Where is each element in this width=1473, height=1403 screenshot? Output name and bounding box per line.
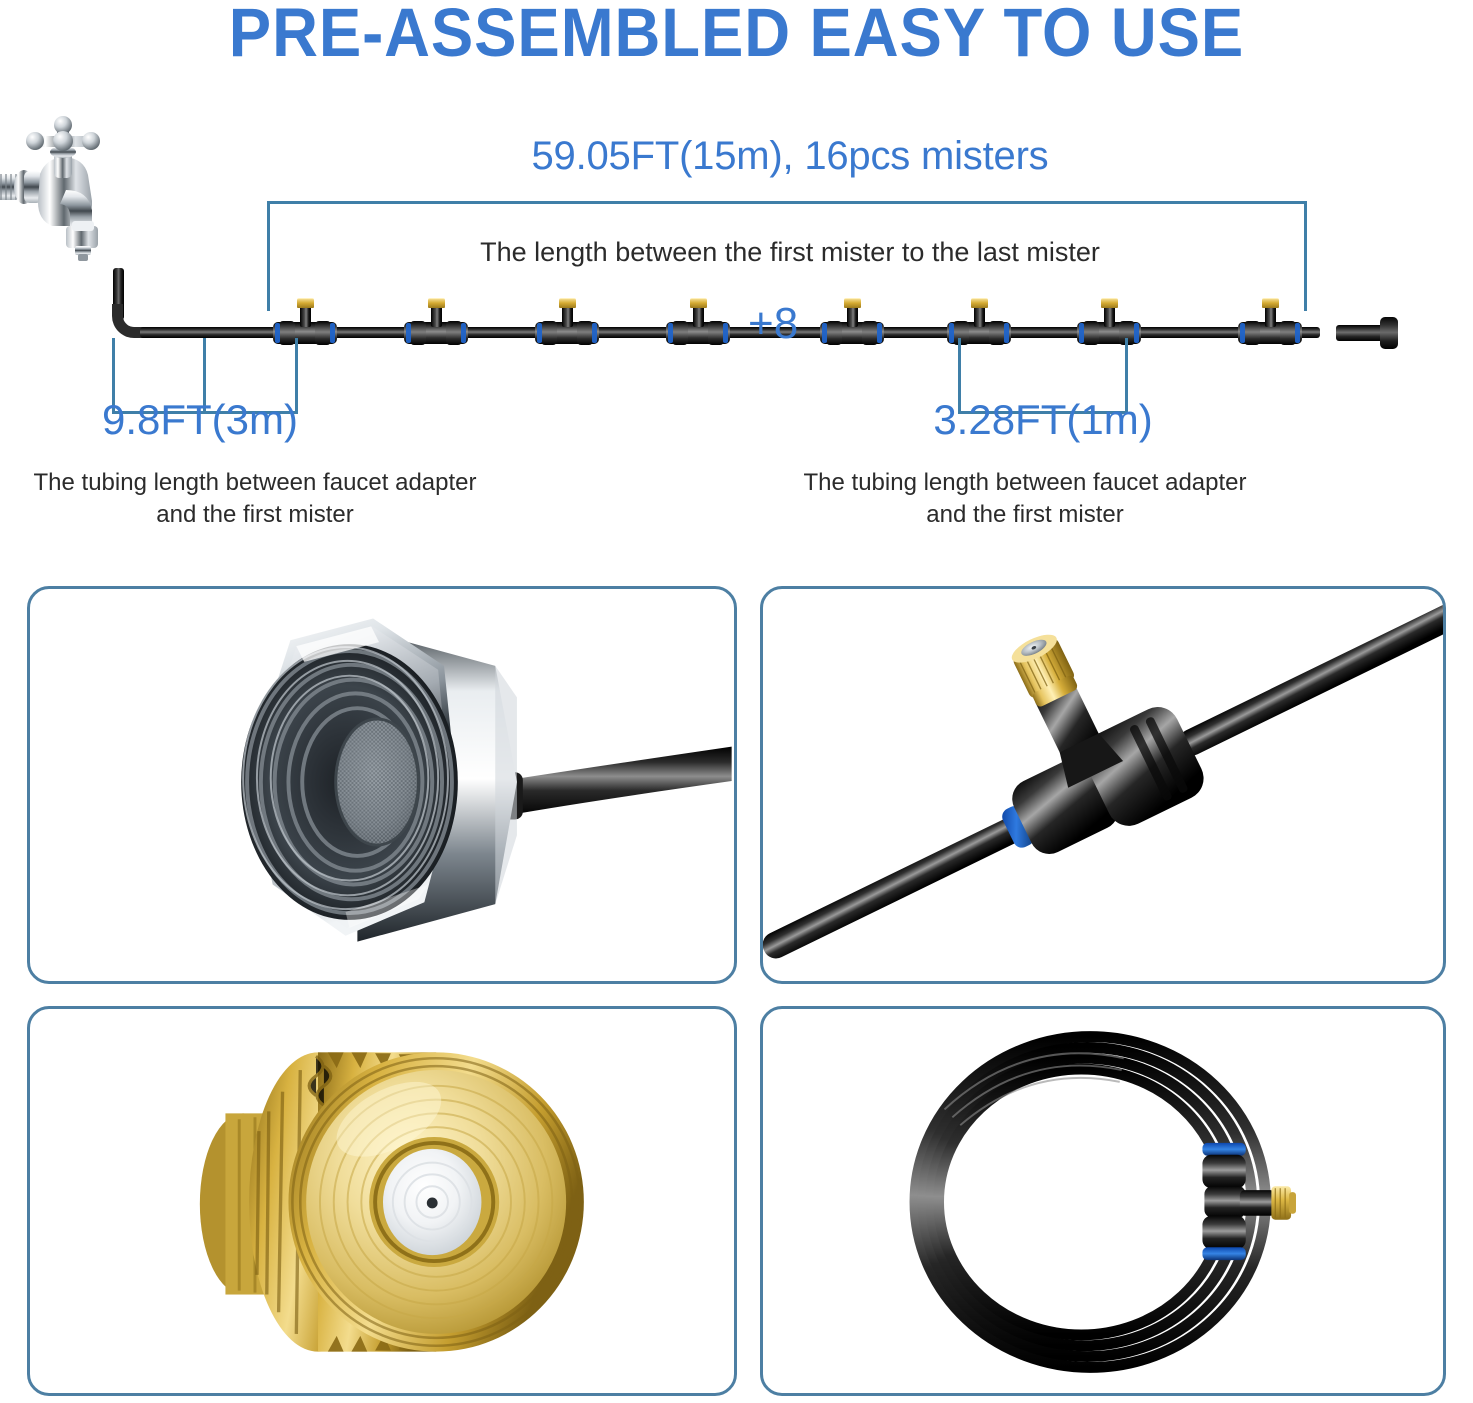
mister-node [666,298,730,344]
mister-node [404,298,468,344]
product-infographic: PRE-ASSEMBLED EASY TO USE 59.05FT(15m), … [0,0,1473,1403]
left-dimension-label: 9.8FT(3m) [30,396,370,444]
end-cap-plug [1336,317,1402,349]
mister-node [535,298,599,344]
page-title: PRE-ASSEMBLED EASY TO USE [59,0,1414,67]
brass-nozzle-icon [297,298,314,308]
mister-node [820,298,884,344]
brass-nozzle-icon [1101,298,1118,308]
photo-panel-faucet-adapter [27,586,737,984]
photo-panel-mister-tee [760,586,1446,984]
photo-panel-brass-nozzle [27,1006,737,1396]
brass-nozzle-icon [559,298,576,308]
right-dimension-caption: The tubing length between faucet adapter… [790,467,1260,531]
repeat-marker: +8 [748,302,798,346]
brass-nozzle-icon [844,298,861,308]
brass-nozzle-icon [428,298,445,308]
assembly-diagram: 59.05FT(15m), 16pcs misters The length b… [0,96,1473,556]
mister-node [1238,298,1302,344]
total-length-label: 59.05FT(15m), 16pcs misters [280,134,1300,179]
left-dimension-caption: The tubing length between faucet adapter… [20,467,490,531]
right-dimension-label: 3.28FT(1m) [873,396,1213,444]
total-length-caption: The length between the first mister to t… [280,237,1300,268]
brass-nozzle-icon [1262,298,1279,308]
brass-nozzle-icon [690,298,707,308]
photo-panel-coiled-tubing [760,1006,1446,1396]
brass-nozzle-icon [971,298,988,308]
faucet-icon [0,116,144,286]
